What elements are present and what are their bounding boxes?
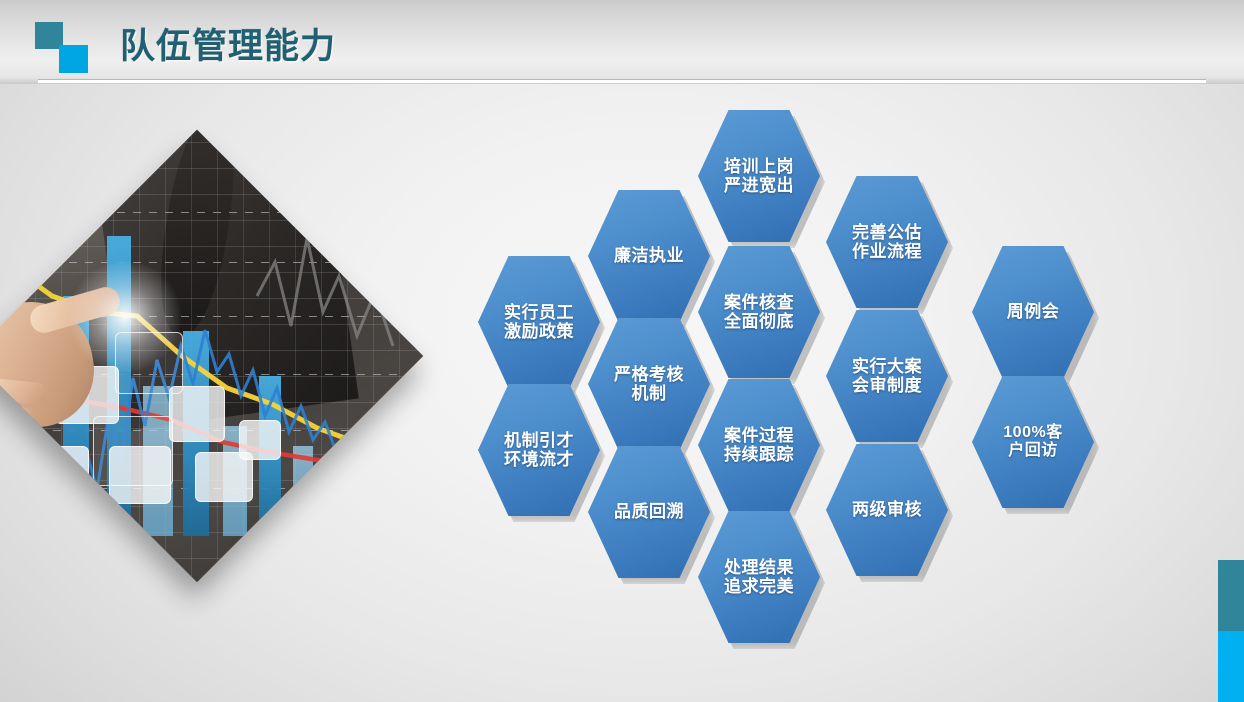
hex-cell-label: 周例会 xyxy=(1001,302,1066,321)
hex-cell-label: 实行大案 会审制度 xyxy=(846,357,928,395)
hex-cell-label: 严格考核 机制 xyxy=(608,365,690,403)
hex-cell-label: 100%客 户回访 xyxy=(997,424,1068,460)
corner-block-blue xyxy=(1218,631,1244,702)
hex-cell-label: 两级审核 xyxy=(846,500,928,519)
corner-block-teal xyxy=(1218,560,1244,631)
hex-cell-label: 实行员工 激励政策 xyxy=(498,303,580,341)
hex-cell-label: 机制引才 环境流才 xyxy=(498,431,580,469)
hex-cell-label: 完善公估 作业流程 xyxy=(846,223,928,261)
hex-cell-label: 处理结果 追求完美 xyxy=(718,558,800,596)
hex-cell-label: 案件过程 持续跟踪 xyxy=(718,426,800,464)
honeycomb-diagram: 实行员工 激励政策机制引才 环境流才廉洁执业严格考核 机制品质回溯培训上岗 严进… xyxy=(0,0,1244,702)
hex-cell-label: 培训上岗 严进宽出 xyxy=(718,157,800,195)
hex-cell-label: 廉洁执业 xyxy=(608,246,690,265)
hex-cell-label: 案件核查 全面彻底 xyxy=(718,293,800,331)
slide-canvas: 队伍管理能力 xyxy=(0,0,1244,702)
hex-cell-label: 品质回溯 xyxy=(608,502,690,521)
